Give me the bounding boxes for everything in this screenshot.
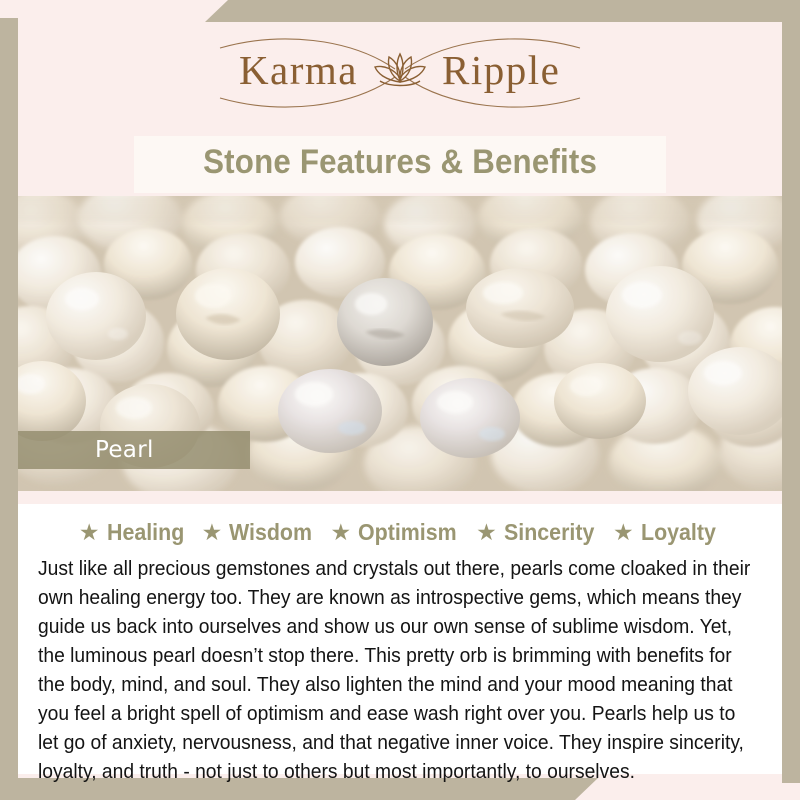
benefits-row: ★ Healing ★ Wisdom ★ Optimism ★ Sincerit… bbox=[32, 514, 768, 550]
star-icon: ★ bbox=[613, 521, 634, 544]
benefit-label: Healing bbox=[107, 519, 184, 546]
pearl-gemstones-photo: Pearl bbox=[0, 196, 800, 491]
page-title: Stone Features & Benefits bbox=[203, 143, 597, 182]
benefit-label: Optimism bbox=[358, 519, 457, 546]
photo-caption-bar: Pearl bbox=[18, 431, 250, 469]
brand-logo-svg: Karma Ripple bbox=[190, 34, 610, 112]
star-icon: ★ bbox=[79, 521, 100, 544]
benefit-item-healing: ★ Healing bbox=[79, 519, 190, 546]
stone-description-text: Just like all precious gemstones and cry… bbox=[38, 554, 758, 786]
right-edge-decoration bbox=[782, 17, 800, 783]
star-icon: ★ bbox=[476, 521, 497, 544]
stone-name-label: Pearl bbox=[18, 437, 154, 463]
content-card: ★ Healing ★ Wisdom ★ Optimism ★ Sincerit… bbox=[18, 504, 782, 774]
star-icon: ★ bbox=[202, 521, 223, 544]
benefit-item-loyalty: ★ Loyalty bbox=[613, 519, 721, 546]
brand-name-left: Karma bbox=[239, 47, 358, 93]
benefit-item-wisdom: ★ Wisdom bbox=[202, 519, 319, 546]
left-edge-decoration bbox=[0, 18, 18, 780]
brand-name-right: Ripple bbox=[442, 47, 560, 93]
benefit-label: Loyalty bbox=[641, 519, 716, 546]
title-band: Stone Features & Benefits bbox=[18, 131, 782, 197]
benefit-item-sincerity: ★ Sincerity bbox=[476, 519, 601, 546]
top-diagonal-decoration bbox=[0, 0, 800, 22]
title-plate: Stone Features & Benefits bbox=[134, 136, 666, 193]
star-icon: ★ bbox=[330, 521, 351, 544]
benefit-label: Wisdom bbox=[229, 519, 312, 546]
brand-logo: Karma Ripple bbox=[0, 34, 800, 112]
benefit-label: Sincerity bbox=[504, 519, 594, 546]
stone-benefits-poster: Karma Ripple Stone Features & Benefits bbox=[0, 0, 800, 800]
lotus-flower-icon bbox=[375, 54, 425, 86]
benefit-item-optimism: ★ Optimism bbox=[330, 519, 464, 546]
